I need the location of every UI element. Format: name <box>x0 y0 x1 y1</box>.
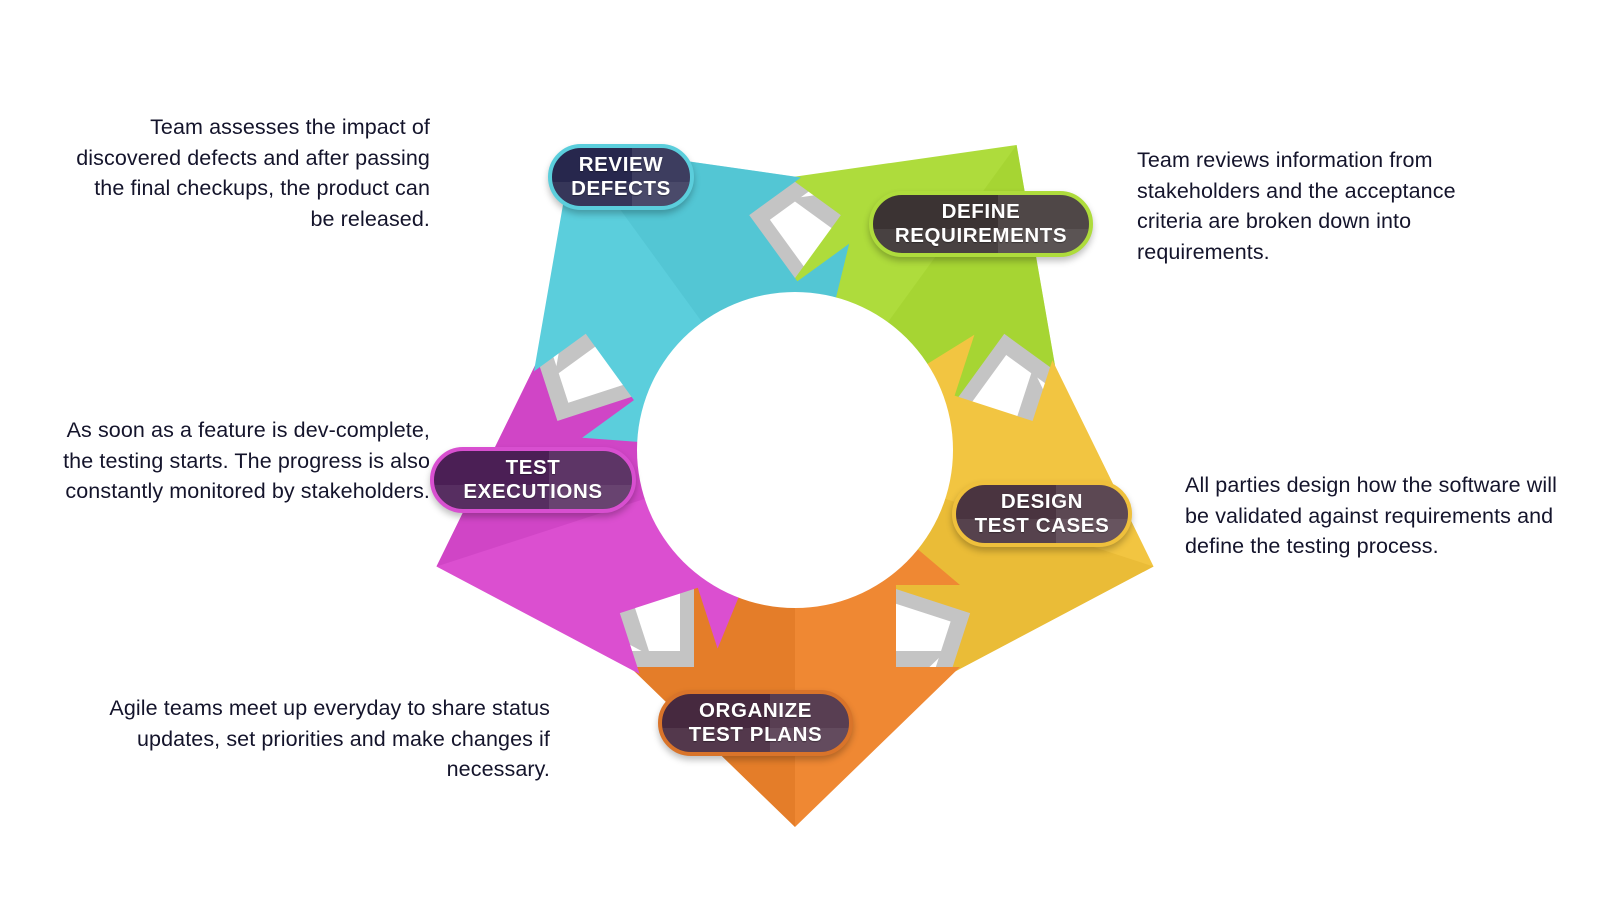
step-label-line2: DEFECTS <box>571 177 671 201</box>
step-label-line1: DEFINE <box>942 200 1021 224</box>
step-label-review-defects[interactable]: REVIEW DEFECTS <box>548 144 694 210</box>
step-label-line1: ORGANIZE <box>699 699 812 723</box>
step-label-line2: TEST PLANS <box>689 723 823 747</box>
step-label-line2: TEST CASES <box>975 514 1110 538</box>
step-label-design-test-cases[interactable]: DESIGN TEST CASES <box>952 481 1132 547</box>
diagram-canvas: REVIEW DEFECTS DEFINE REQUIREMENTS DESIG… <box>0 0 1600 900</box>
wheel-center <box>637 292 953 608</box>
step-description-review-defects: Team assesses the impact of discovered d… <box>70 112 430 235</box>
step-description-design-test-cases: All parties design how the software will… <box>1185 470 1560 562</box>
step-label-line2: EXECUTIONS <box>463 480 602 504</box>
step-label-line1: DESIGN <box>1001 490 1083 514</box>
step-label-line1: REVIEW <box>579 153 663 177</box>
step-label-line2: REQUIREMENTS <box>895 224 1067 248</box>
step-description-define-requirements: Team reviews information from stakeholde… <box>1137 145 1517 268</box>
step-label-line1: TEST <box>506 456 561 480</box>
step-label-organize-test-plans[interactable]: ORGANIZE TEST PLANS <box>658 690 853 756</box>
step-description-organize-test-plans: Agile teams meet up everyday to share st… <box>90 693 550 785</box>
step-label-define-requirements[interactable]: DEFINE REQUIREMENTS <box>869 191 1093 257</box>
step-label-test-executions[interactable]: TEST EXECUTIONS <box>430 447 636 513</box>
step-description-test-executions: As soon as a feature is dev-complete, th… <box>50 415 430 507</box>
